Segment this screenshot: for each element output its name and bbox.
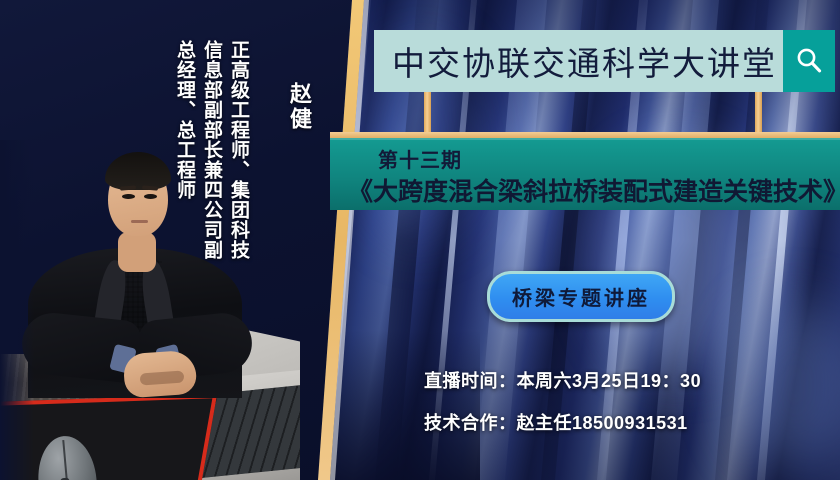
speaker-title-line-3: 总经理、总工程师 (171, 40, 198, 200)
search-button[interactable] (783, 30, 835, 92)
topic-title: 《大跨度混合梁斜拉桥装配式建造关键技术》 (348, 172, 840, 208)
neck (118, 232, 156, 272)
eye-left (122, 194, 135, 199)
live-time-text: 直播时间：本周六3月25日19：30 (424, 367, 701, 393)
speaker-photo (0, 140, 300, 480)
topic-badge[interactable]: 桥梁专题讲座 (487, 271, 675, 322)
search-icon (794, 46, 824, 76)
speaker-name: 赵健 (283, 82, 315, 132)
page-title: 中交协联交通科学大讲堂 (392, 37, 777, 85)
contact-text: 技术合作：赵主任18500931531 (424, 409, 688, 435)
mouth (131, 220, 148, 223)
header-banner: 中交协联交通科学大讲堂 (374, 30, 783, 92)
speaker-title-line-2: 信息部副部长兼四公司副 (198, 40, 225, 260)
subtitle-banner: 第十三期 《大跨度混合梁斜拉桥装配式建造关键技术》 (330, 138, 840, 210)
topic-badge-label: 桥梁专题讲座 (512, 282, 650, 311)
eye-right (144, 194, 157, 199)
live-stream-poster: 赵健 正高级工程师、集团科技 信息部副部长兼四公司副 总经理、总工程师 中交协联… (0, 0, 840, 480)
speaker-title-line-1: 正高级工程师、集团科技 (225, 40, 252, 260)
episode-label: 第十三期 (378, 144, 462, 173)
hair (105, 152, 171, 190)
photo-edge-fade (0, 140, 34, 480)
